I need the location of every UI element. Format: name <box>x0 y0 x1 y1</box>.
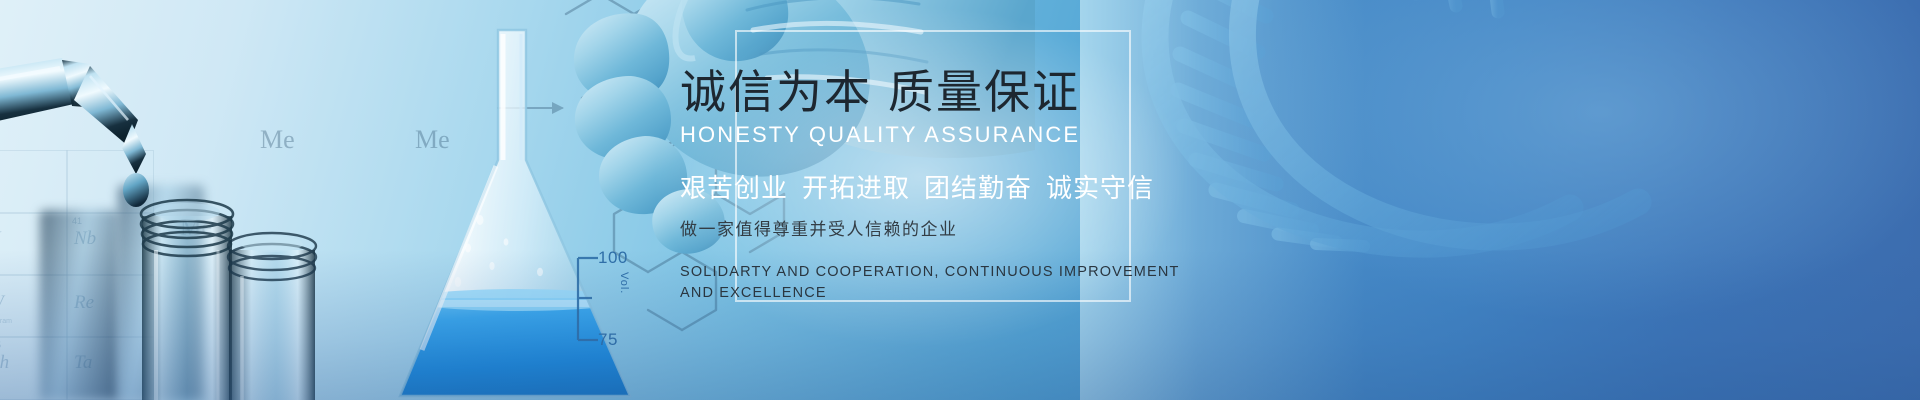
hero-banner: 23 V 41 Nb 74 W Wolfram Re 105 Bh Ta <box>0 0 1920 400</box>
slogan-chinese: 艰苦创业开拓进取团结勤奋诚实守信 <box>680 168 1240 205</box>
headline-part-1: 诚信为本 <box>680 66 872 118</box>
subtitle-english: HONESTY QUALITY ASSURANCE <box>680 122 1240 148</box>
slogan-phrase-2: 开拓进取 <box>802 173 910 203</box>
headline: 诚信为本质量保证 <box>680 66 1240 118</box>
slogan-phrase-3: 团结勤奋 <box>924 173 1032 203</box>
motto-chinese: 做一家值得尊重并受人信赖的企业 <box>680 215 1240 240</box>
motto-english: SOLIDARTY AND COOPERATION, CONTINUOUS IM… <box>680 262 1240 303</box>
motto-english-line-1: SOLIDARTY AND COOPERATION, CONTINUOUS IM… <box>680 262 1240 283</box>
headline-part-2: 质量保证 <box>888 66 1080 118</box>
slogan-phrase-4: 诚实守信 <box>1046 173 1154 203</box>
motto-english-line-2: AND EXCELLENCE <box>680 283 1240 304</box>
banner-copy-block: 诚信为本质量保证 HONESTY QUALITY ASSURANCE 艰苦创业开… <box>680 66 1240 304</box>
slogan-phrase-1: 艰苦创业 <box>680 173 788 203</box>
